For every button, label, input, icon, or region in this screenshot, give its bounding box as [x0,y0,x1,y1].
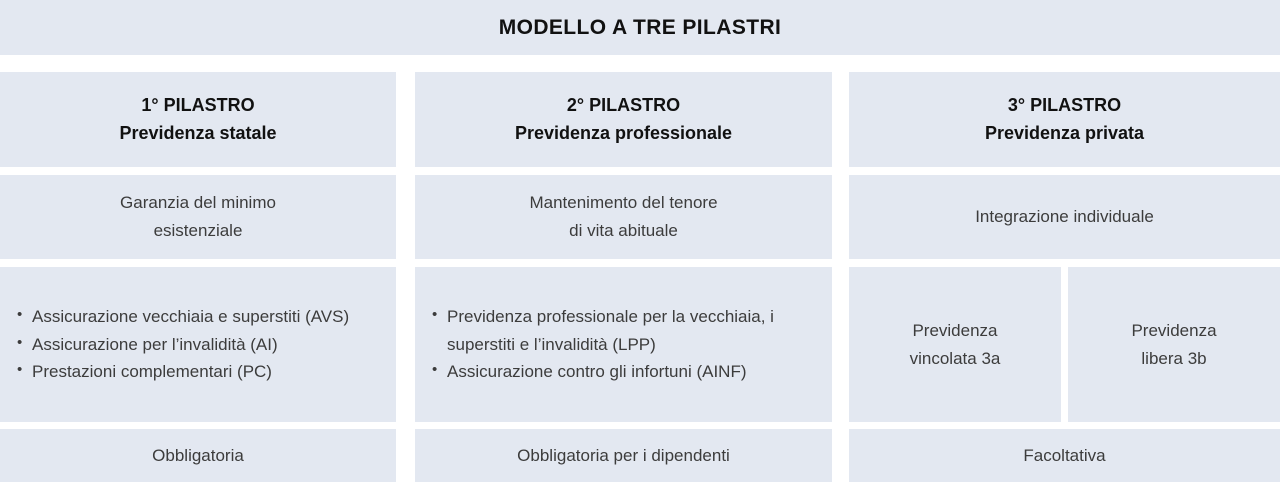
pillar-3-subbox-3b-line-2: libera 3b [1131,345,1216,373]
pillar-2-bullet-list: Previdenza professionale per la vecchiai… [429,303,818,386]
list-item: Prestazioni complementari (PC) [14,358,382,386]
pillar-1-footer: Obbligatoria [0,429,396,482]
pillar-1-goal-line-1: Garanzia del minimo [120,189,276,217]
pillar-3-footer: Facoltativa [849,429,1280,482]
pillar-2-goal-line-1: Mantenimento del tenore [529,189,717,217]
pillar-3-subboxes: Previdenza vincolata 3a Previdenza liber… [849,267,1280,422]
row-gap [849,167,1280,175]
list-item: Assicurazione per l’invalidità (AI) [14,331,382,359]
pillar-3-subbox-3a-line-1: Previdenza [910,317,1001,345]
pillar-2-number: 2° PILASTRO [567,92,680,120]
pillar-2-footer: Obbligatoria per i dipendenti [415,429,832,482]
pillar-3-subbox-3b-line-1: Previdenza [1131,317,1216,345]
pillar-3-goal-line-1: Integrazione individuale [975,203,1154,231]
row-gap [415,422,832,429]
three-pillar-diagram: MODELLO A TRE PILASTRI 1° PILASTRO Previ… [0,0,1280,485]
pillar-3-subbox-3a-line-2: vincolata 3a [910,345,1001,373]
pillar-1-name: Previdenza statale [119,120,276,148]
subbox-divider [1061,267,1068,422]
pillar-2-goal: Mantenimento del tenore di vita abituale [415,175,832,259]
pillar-1-number: 1° PILASTRO [141,92,254,120]
row-gap [0,259,396,267]
list-item: Assicurazione contro gli infortuni (AINF… [429,358,818,386]
row-gap [0,167,396,175]
diagram-title-bar: MODELLO A TRE PILASTRI [0,0,1280,55]
pillar-2-name: Previdenza professionale [515,120,732,148]
pillar-1-goal-line-2: esistenziale [120,217,276,245]
pillar-2-items: Previdenza professionale per la vecchiai… [415,267,832,422]
pillar-columns: 1° PILASTRO Previdenza statale Garanzia … [0,72,1280,485]
pillar-2-header: 2° PILASTRO Previdenza professionale [415,72,832,167]
pillar-3-name: Previdenza privata [985,120,1144,148]
pillar-1-items: Assicurazione vecchiaia e superstiti (AV… [0,267,396,422]
list-item: Assicurazione vecchiaia e superstiti (AV… [14,303,382,331]
pillar-1-goal: Garanzia del minimo esistenziale [0,175,396,259]
row-gap [415,259,832,267]
diagram-title: MODELLO A TRE PILASTRI [499,16,782,40]
pillar-3-number: 3° PILASTRO [1008,92,1121,120]
row-gap [0,422,396,429]
pillar-3-goal: Integrazione individuale [849,175,1280,259]
list-item: Previdenza professionale per la vecchiai… [429,303,818,358]
row-gap [849,422,1280,429]
row-gap [415,167,832,175]
row-gap [849,259,1280,267]
pillar-2-goal-line-2: di vita abituale [529,217,717,245]
pillar-1-bullet-list: Assicurazione vecchiaia e superstiti (AV… [14,303,382,386]
pillar-column-1: 1° PILASTRO Previdenza statale Garanzia … [0,72,415,485]
pillar-3-subbox-3a: Previdenza vincolata 3a [849,267,1061,422]
pillar-column-3: 3° PILASTRO Previdenza privata Integrazi… [849,72,1280,485]
pillar-3-header: 3° PILASTRO Previdenza privata [849,72,1280,167]
pillar-column-2: 2° PILASTRO Previdenza professionale Man… [415,72,849,485]
pillar-3-subbox-3b: Previdenza libera 3b [1068,267,1280,422]
pillar-1-header: 1° PILASTRO Previdenza statale [0,72,396,167]
